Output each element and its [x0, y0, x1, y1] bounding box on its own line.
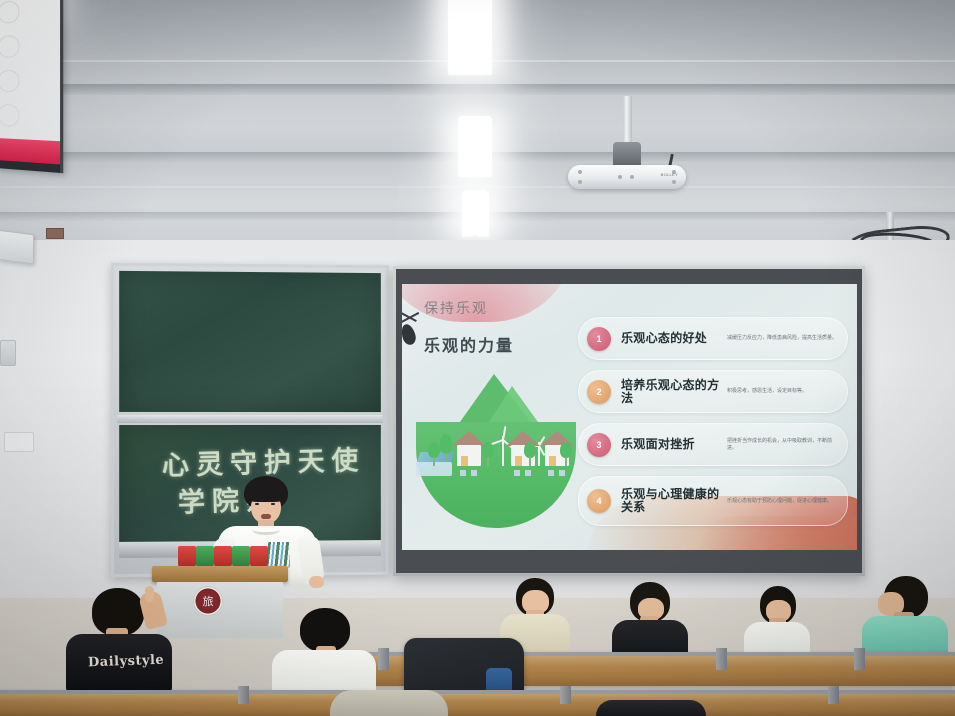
student-torso — [596, 700, 706, 716]
cup — [196, 546, 214, 568]
slide-item-description: 把挫折当作成长的机会，从中吸取教训，不断前进。 — [727, 438, 847, 452]
slide-item: 2 培养乐观心态的方法 积极思考，感恩生活，设定目标等。 — [578, 370, 848, 413]
bench-post — [854, 648, 865, 670]
slide-item-number: 3 — [587, 433, 611, 457]
bench-post — [716, 648, 727, 670]
slide-item-heading: 乐观心态的好处 — [621, 332, 727, 345]
wall-outlet — [4, 432, 34, 452]
ceiling-light — [462, 196, 489, 230]
wall-mounted-display — [0, 0, 63, 173]
slide-item: 3 乐观面对挫折 把挫折当作成长的机会，从中吸取教训，不断前进。 — [578, 423, 848, 466]
student-front-left — [330, 690, 448, 716]
presenter-eye — [271, 503, 275, 505]
wall-speaker — [0, 230, 34, 264]
student-torso — [330, 690, 448, 716]
cup — [250, 546, 268, 568]
student-beige-shirt — [500, 578, 570, 638]
bench-post — [828, 686, 839, 704]
cup — [178, 546, 196, 568]
cup — [232, 546, 250, 568]
slide-item-number: 4 — [587, 489, 611, 513]
eco-village-illustration — [410, 370, 580, 528]
lecture-podium: 旅 — [152, 566, 288, 638]
presenter-mouth — [261, 514, 271, 519]
ceiling-beam — [0, 84, 955, 95]
presenter-collar — [252, 525, 280, 535]
ceiling-microphone-array: BOLLEY — [568, 165, 686, 189]
wall-bracket — [46, 228, 64, 239]
ceiling-light — [458, 122, 492, 170]
slide-subtitle: 乐观的力量 — [424, 332, 514, 356]
bench-post — [560, 686, 571, 704]
podium-top-surface — [152, 566, 288, 582]
ceiling-light — [448, 0, 492, 68]
presentation-slide: 保持乐观 乐观的力量 — [402, 284, 857, 550]
bench-row-front — [0, 690, 955, 716]
cup — [214, 546, 232, 568]
ceiling-panel-line — [0, 186, 955, 188]
bench-post — [238, 686, 249, 704]
slide-item-number: 1 — [587, 327, 611, 351]
slide-item-description: 乐观心态有助于预防心理问题，促进心理健康。 — [727, 498, 847, 505]
slide-item-number: 2 — [587, 380, 611, 404]
podium-emblem: 旅 — [193, 586, 223, 616]
slide-item-heading: 乐观面对挫折 — [621, 438, 727, 451]
blackboard-divider-rail — [117, 415, 383, 423]
student-mint-shirt — [862, 576, 948, 638]
slide-title: 保持乐观 — [424, 298, 488, 318]
student-dark-shirt — [612, 582, 688, 644]
lecture-hall-photo: BOLLEY 心灵守护天使 学院辩 — [0, 0, 955, 716]
slide-item-heading: 乐观与心理健康的关系 — [621, 488, 727, 514]
student-white-shirt-2 — [742, 586, 812, 644]
student-shirt-text: Dailystyle — [88, 653, 165, 671]
ceiling: BOLLEY — [0, 0, 955, 262]
blackboard-upper-panel — [119, 271, 381, 412]
slide-item-heading: 培养乐观心态的方法 — [621, 379, 727, 405]
slide-item: 1 乐观心态的好处 减缓压力反应力，降低患病风险，提高生活质量。 — [578, 317, 848, 360]
slide-item: 4 乐观与心理健康的关系 乐观心态有助于预防心理问题，促进心理健康。 — [578, 476, 848, 526]
presenter-eye — [255, 503, 259, 505]
presenter-hand — [309, 576, 324, 588]
student-finger — [145, 586, 154, 602]
mic-array-brand-text: BOLLEY — [661, 172, 678, 177]
student-white-shirt-1 — [272, 608, 376, 694]
slide-item-description: 积极思考，感恩生活，设定目标等。 — [727, 388, 847, 395]
student-front-right — [596, 700, 706, 716]
slide-item-list: 1 乐观心态的好处 减缓压力反应力，降低患病风险，提高生活质量。 2 培养乐观心… — [578, 317, 848, 536]
slide-item-description: 减缓压力反应力，降低患病风险，提高生活质量。 — [727, 335, 847, 342]
bench-post — [378, 648, 389, 670]
wall-device-box — [0, 340, 16, 366]
microphone-mount-pole — [623, 96, 632, 148]
hanging-microphone-capsule — [402, 323, 418, 347]
presenter-hair-fringe — [245, 486, 287, 502]
